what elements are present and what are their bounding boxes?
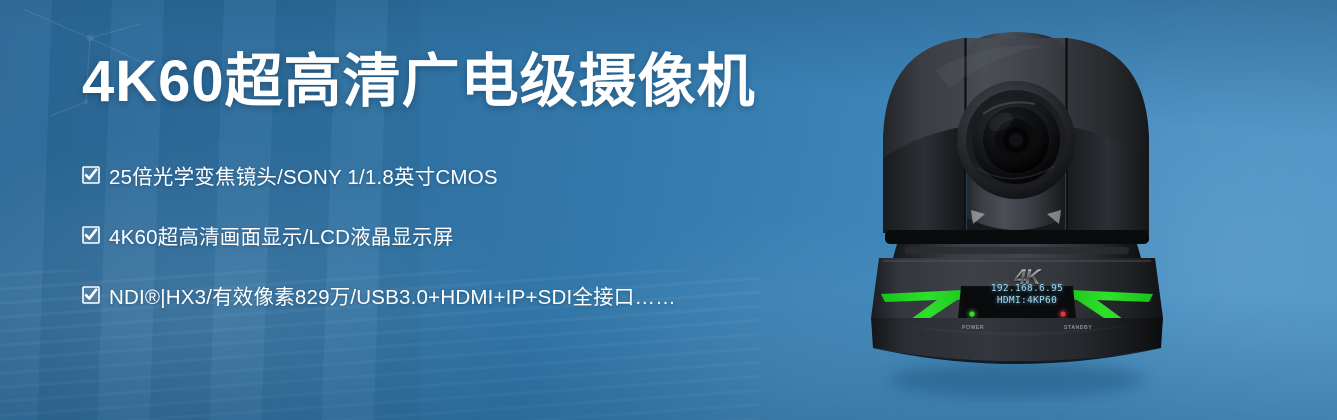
checkbox-checked-icon [82, 166, 100, 184]
list-item: 25倍光学变焦镜头/SONY 1/1.8英寸CMOS [82, 160, 842, 190]
ptz-camera-product-image: 192.168.6.95 HDMI:4KP60 POWER STANDBY 4K [845, 18, 1190, 403]
product-banner: 4K60超高清广电级摄像机 25倍光学变焦镜头/SONY 1/1.8英寸CMOS [0, 0, 1337, 420]
feature-text: 25倍光学变焦镜头/SONY 1/1.8英寸CMOS [109, 160, 498, 190]
list-item: NDI®|HX3/有效像素829万/USB3.0+HDMI+IP+SDI全接口…… [82, 280, 842, 310]
checkbox-checked-icon [82, 226, 100, 244]
feature-text: 4K60超高清画面显示/LCD液晶显示屏 [109, 220, 454, 250]
feature-text: NDI®|HX3/有效像素829万/USB3.0+HDMI+IP+SDI全接口…… [109, 280, 676, 310]
checkbox-checked-icon [82, 286, 100, 304]
list-item: 4K60超高清画面显示/LCD液晶显示屏 [82, 220, 842, 250]
page-title: 4K60超高清广电级摄像机 [82, 52, 842, 113]
camera-illustration [845, 18, 1190, 403]
feature-list: 25倍光学变焦镜头/SONY 1/1.8英寸CMOS 4K60超高清画面显示/L… [82, 160, 842, 310]
banner-content: 4K60超高清广电级摄像机 25倍光学变焦镜头/SONY 1/1.8英寸CMOS [82, 52, 842, 310]
